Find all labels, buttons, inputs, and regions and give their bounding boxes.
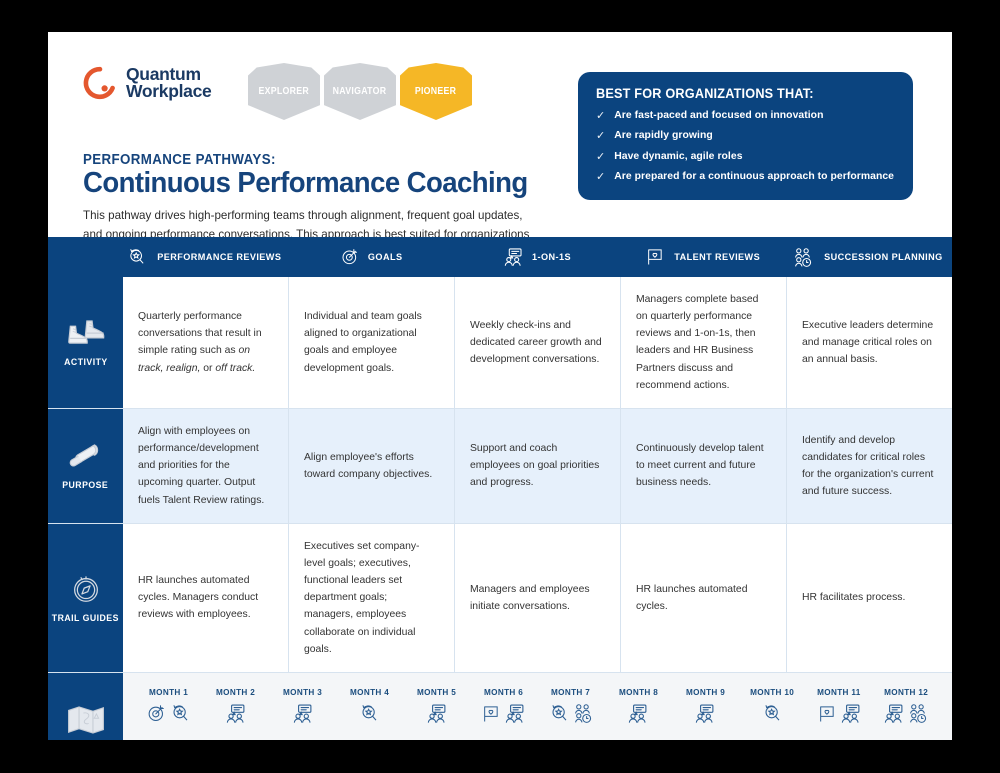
month-icons: [694, 700, 716, 728]
talent-flag-heart-icon: [645, 247, 665, 267]
month-icons: [549, 700, 594, 728]
hiking-boots-icon: [66, 317, 106, 351]
month-label: MONTH 10: [750, 687, 794, 697]
goal-target-icon: [146, 703, 167, 724]
talent-flag-heart-icon: [817, 704, 837, 724]
month-label: MONTH 4: [350, 687, 389, 697]
row-label-trail-guides: TRAIL GUIDES: [48, 524, 123, 672]
page-title: Continuous Performance Coaching: [83, 167, 528, 200]
flashlight-icon: [67, 440, 105, 474]
list-item: ✓ Are fast-paced and focused on innovati…: [596, 110, 895, 122]
column-label: PERFORMANCE REVIEWS: [157, 252, 281, 263]
badge-explorer-label: EXPLORER: [259, 86, 310, 97]
cell-guides-goals: Executives set company-level goals; exec…: [289, 524, 455, 672]
cell-activity-talent-reviews: Managers complete based on quarterly per…: [621, 277, 787, 408]
best-for-callout: BEST FOR ORGANIZATIONS THAT: ✓ Are fast-…: [578, 72, 913, 200]
column-label: 1-ON-1S: [532, 252, 571, 263]
badge-explorer[interactable]: EXPLORER: [248, 63, 320, 120]
month-9: MONTH 9: [672, 687, 739, 728]
month-11: MONTH 11: [806, 687, 873, 728]
month-7: MONTH 7: [537, 687, 604, 728]
month-12: MONTH 12: [873, 687, 940, 728]
column-header-talent-reviews: TALENT REVIEWS: [620, 247, 786, 267]
cell-text: HR facilitates process.: [802, 589, 905, 606]
succession-people-icon: [573, 703, 594, 724]
header-section: Quantum Workplace EXPLORER NAVIGATOR PIO…: [48, 32, 952, 237]
month-icons: [481, 700, 526, 728]
month-label: MONTH 6: [484, 687, 523, 697]
column-label: TALENT REVIEWS: [674, 252, 760, 263]
cell-purpose-1-on-1s: Support and coach employees on goal prio…: [455, 409, 621, 523]
badge-navigator[interactable]: NAVIGATOR: [324, 63, 396, 120]
one-on-one-icon: [292, 703, 314, 725]
month-6: MONTH 6: [470, 687, 537, 728]
cell-text: Align with employees on performance/deve…: [138, 423, 273, 509]
table-row-activity: ACTIVITY Quarterly performance conversat…: [48, 277, 952, 409]
month-3: MONTH 3: [269, 687, 336, 728]
eyebrow-text: PERFORMANCE PATHWAYS:: [83, 152, 276, 168]
month-1: MONTH 1: [135, 687, 202, 728]
pathway-table: PERFORMANCE REVIEWS GOALS: [48, 237, 952, 740]
cell-text: Managers complete based on quarterly per…: [636, 291, 771, 394]
callout-item-label: Are rapidly growing: [614, 130, 713, 142]
month-label: MONTH 1: [149, 687, 188, 697]
one-on-one-icon: [225, 703, 247, 725]
goal-target-icon: [340, 247, 360, 267]
infographic-page: Quantum Workplace EXPLORER NAVIGATOR PIO…: [48, 32, 952, 740]
month-icons: [426, 700, 448, 728]
cell-guides-talent-reviews: HR launches automated cycles.: [621, 524, 787, 672]
callout-item-label: Have dynamic, agile roles: [614, 151, 742, 163]
cell-text: HR launches automated cycles.: [636, 581, 771, 615]
month-list: MONTH 1 MONTH 2 MONTH 3: [135, 687, 940, 728]
month-5: MONTH 5: [403, 687, 470, 728]
month-icons: [817, 700, 862, 728]
badge-pioneer[interactable]: PIONEER: [400, 63, 472, 120]
month-label: MONTH 2: [216, 687, 255, 697]
cell-purpose-performance-reviews: Align with employees on performance/deve…: [123, 409, 289, 523]
month-10: MONTH 10: [739, 687, 806, 728]
cell-activity-goals: Individual and team goals aligned to org…: [289, 277, 455, 408]
cell-activity-1-on-1s: Weekly check-ins and dedicated career gr…: [455, 277, 621, 408]
column-header-succession-planning: SUCCESSION PLANNING: [786, 247, 952, 268]
itinerary-body: MONTH 1 MONTH 2 MONTH 3: [123, 673, 952, 740]
list-item: ✓ Are rapidly growing: [596, 130, 895, 142]
table-row-purpose: PURPOSE Align with employees on performa…: [48, 409, 952, 524]
month-label: MONTH 7: [551, 687, 590, 697]
column-header-performance-reviews: PERFORMANCE REVIEWS: [123, 247, 289, 267]
list-item: ✓ Have dynamic, agile roles: [596, 151, 895, 163]
month-label: MONTH 8: [619, 687, 658, 697]
cell-guides-1-on-1s: Managers and employees initiate conversa…: [455, 524, 621, 672]
month-icons: [762, 700, 783, 728]
month-label: MONTH 12: [884, 687, 928, 697]
quantum-q-icon: [83, 66, 117, 100]
one-on-one-icon: [504, 703, 526, 725]
review-badge-search-icon: [549, 703, 570, 724]
quantum-workplace-logo: Quantum Workplace: [83, 66, 211, 100]
cell-activity-performance-reviews: Quarterly performance conversations that…: [123, 277, 289, 408]
month-label: MONTH 5: [417, 687, 456, 697]
column-header-1-on-1s: 1-ON-1S: [455, 247, 621, 268]
row-label-text: TRAIL GUIDES: [52, 613, 119, 624]
cell-activity-succession-planning: Executive leaders determine and manage c…: [787, 277, 952, 408]
cell-guides-performance-reviews: HR launches automated cycles. Managers c…: [123, 524, 289, 672]
month-icons: [627, 700, 649, 728]
review-badge-search-icon: [170, 703, 191, 724]
cell-text: Align employee's efforts toward company …: [304, 449, 439, 483]
row-label-purpose: PURPOSE: [48, 409, 123, 523]
map-icon: [66, 704, 106, 736]
month-icons: [359, 700, 380, 728]
cell-purpose-goals: Align employee's efforts toward company …: [289, 409, 455, 523]
one-on-one-icon: [503, 247, 524, 268]
month-label: MONTH 9: [686, 687, 725, 697]
one-on-one-icon: [883, 703, 905, 725]
month-label: MONTH 3: [283, 687, 322, 697]
cell-text: Support and coach employees on goal prio…: [470, 440, 605, 491]
callout-item-label: Are prepared for a continuous approach t…: [614, 171, 894, 183]
cell-purpose-succession-planning: Identify and develop candidates for crit…: [787, 409, 952, 523]
table-row-trail-guides: TRAIL GUIDES HR launches automated cycle…: [48, 524, 952, 673]
cell-text: Executives set company-level goals; exec…: [304, 538, 439, 658]
succession-people-icon: [908, 703, 929, 724]
month-2: MONTH 2: [202, 687, 269, 728]
cell-text: Quarterly performance conversations that…: [138, 308, 273, 377]
check-icon: ✓: [596, 171, 605, 183]
month-icons: [146, 700, 191, 728]
cell-text: HR launches automated cycles. Managers c…: [138, 572, 273, 623]
logo-line-2: Workplace: [126, 83, 211, 100]
callout-list: ✓ Are fast-paced and focused on innovati…: [596, 110, 895, 184]
month-icons: [883, 700, 929, 728]
one-on-one-icon: [694, 703, 716, 725]
cell-text: Managers and employees initiate conversa…: [470, 581, 605, 615]
list-item: ✓ Are prepared for a continuous approach…: [596, 171, 895, 183]
pathway-badges: EXPLORER NAVIGATOR PIONEER: [248, 63, 472, 120]
row-label-activity: ACTIVITY: [48, 277, 123, 408]
column-label: SUCCESSION PLANNING: [824, 252, 943, 263]
row-label-suggested-itinerary: SUGGESTED ITINERARY: [48, 673, 123, 740]
column-label: GOALS: [368, 252, 403, 263]
cell-text: Individual and team goals aligned to org…: [304, 308, 439, 377]
review-badge-search-icon: [762, 703, 783, 724]
badge-navigator-label: NAVIGATOR: [333, 86, 387, 97]
check-icon: ✓: [596, 130, 605, 142]
month-label: MONTH 11: [818, 687, 861, 697]
compass-icon: [68, 571, 104, 607]
callout-item-label: Are fast-paced and focused on innovation: [614, 110, 823, 122]
succession-people-icon: [793, 247, 814, 268]
month-icons: [225, 700, 247, 728]
table-header-row: PERFORMANCE REVIEWS GOALS: [48, 237, 952, 277]
cell-text: Executive leaders determine and manage c…: [802, 317, 937, 368]
talent-flag-heart-icon: [481, 704, 501, 724]
review-badge-search-icon: [127, 247, 147, 267]
cell-text: Identify and develop candidates for crit…: [802, 432, 937, 501]
month-8: MONTH 8: [605, 687, 672, 728]
cell-text: Continuously develop talent to meet curr…: [636, 440, 771, 491]
check-icon: ✓: [596, 151, 605, 163]
one-on-one-icon: [840, 703, 862, 725]
month-4: MONTH 4: [336, 687, 403, 728]
check-icon: ✓: [596, 110, 605, 122]
callout-title: BEST FOR ORGANIZATIONS THAT:: [596, 86, 877, 101]
table-row-suggested-itinerary: SUGGESTED ITINERARY MONTH 1 MONTH 2: [48, 673, 952, 740]
cell-guides-succession-planning: HR facilitates process.: [787, 524, 952, 672]
badge-pioneer-label: PIONEER: [415, 86, 456, 97]
cell-purpose-talent-reviews: Continuously develop talent to meet curr…: [621, 409, 787, 523]
row-label-text: PURPOSE: [62, 480, 108, 491]
cell-text: Weekly check-ins and dedicated career gr…: [470, 317, 605, 368]
month-icons: [292, 700, 314, 728]
column-header-goals: GOALS: [289, 247, 455, 267]
row-label-text: ACTIVITY: [64, 357, 108, 368]
one-on-one-icon: [426, 703, 448, 725]
one-on-one-icon: [627, 703, 649, 725]
review-badge-search-icon: [359, 703, 380, 724]
